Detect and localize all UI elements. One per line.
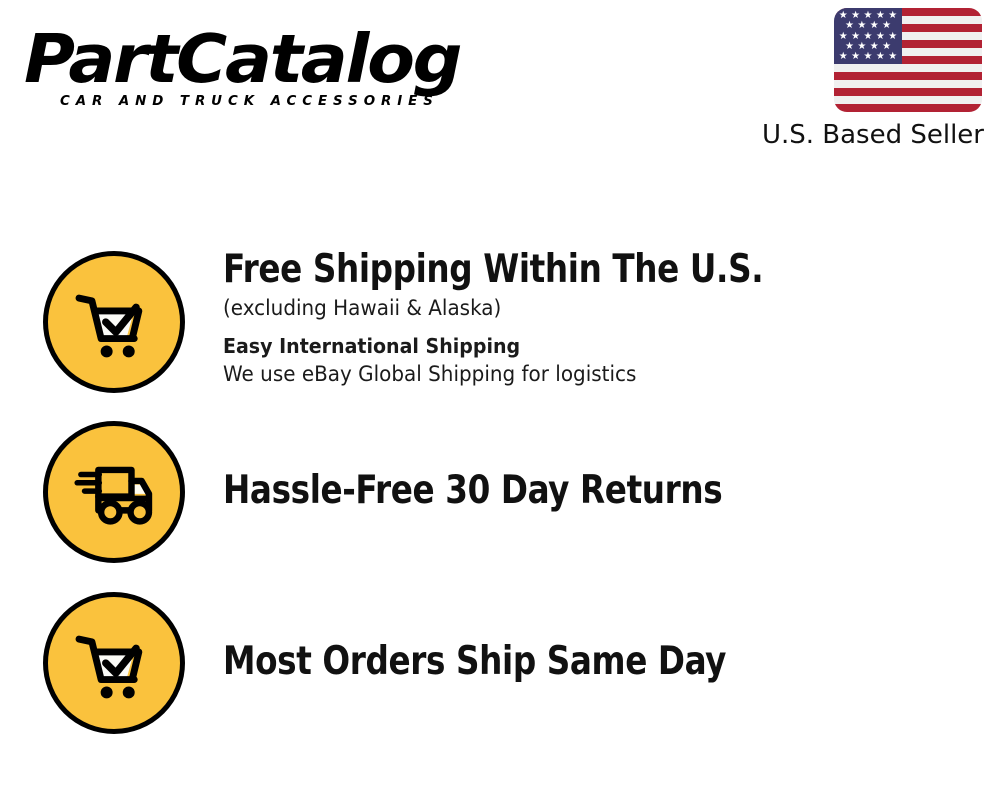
flag-star-icon: ★ (876, 52, 885, 62)
seller-badge-label: U.S. Based Seller (716, 120, 986, 150)
flag-stripe (834, 72, 982, 80)
brand-wordmark: PartCatalog (24, 28, 513, 90)
flag-stripe (834, 88, 982, 96)
feature-text-block: Free Shipping Within The U.S. (excluding… (223, 248, 990, 388)
flag-stripe (834, 104, 982, 112)
flag-star-icon: ★ (851, 52, 860, 62)
feature-secondary-subtext: We use eBay Global Shipping for logistic… (223, 360, 952, 388)
shopping-cart-check-icon (43, 251, 185, 393)
flag-star-icon: ★ (839, 52, 848, 62)
flag-stripe (834, 80, 982, 88)
brand-tagline: CAR AND TRUCK ACCESSORIES (60, 93, 490, 109)
brand-logo[interactable]: PartCatalog CAR AND TRUCK ACCESSORIES (24, 28, 494, 109)
feature-secondary-title: Easy International Shipping (223, 333, 952, 360)
international-shipping-block: Easy International Shipping We use eBay … (223, 333, 990, 388)
feature-text-block: Hassle-Free 30 Day Returns (223, 469, 990, 513)
shopping-cart-check-icon (43, 592, 185, 734)
feature-headline: Most Orders Ship Same Day (223, 640, 936, 684)
feature-headline: Free Shipping Within The U.S. (223, 248, 936, 292)
flag-star-icon: ★ (888, 52, 897, 62)
feature-headline: Hassle-Free 30 Day Returns (223, 469, 936, 513)
delivery-truck-icon (43, 421, 185, 563)
flag-stripe (834, 64, 982, 72)
us-based-seller-badge: ★★★★★★★★★★★★★★★★★★★★★★★ U.S. Based Selle… (716, 8, 986, 150)
feature-text-block: Most Orders Ship Same Day (223, 640, 990, 684)
flag-stripe (834, 96, 982, 104)
page-header: PartCatalog CAR AND TRUCK ACCESSORIES ★★… (0, 0, 1000, 170)
flag-star-icon: ★ (864, 52, 873, 62)
flag-canton: ★★★★★★★★★★★★★★★★★★★★★★★ (834, 8, 902, 64)
us-flag-icon: ★★★★★★★★★★★★★★★★★★★★★★★ (834, 8, 982, 112)
feature-subtext: (excluding Hawaii & Alaska) (223, 294, 952, 322)
